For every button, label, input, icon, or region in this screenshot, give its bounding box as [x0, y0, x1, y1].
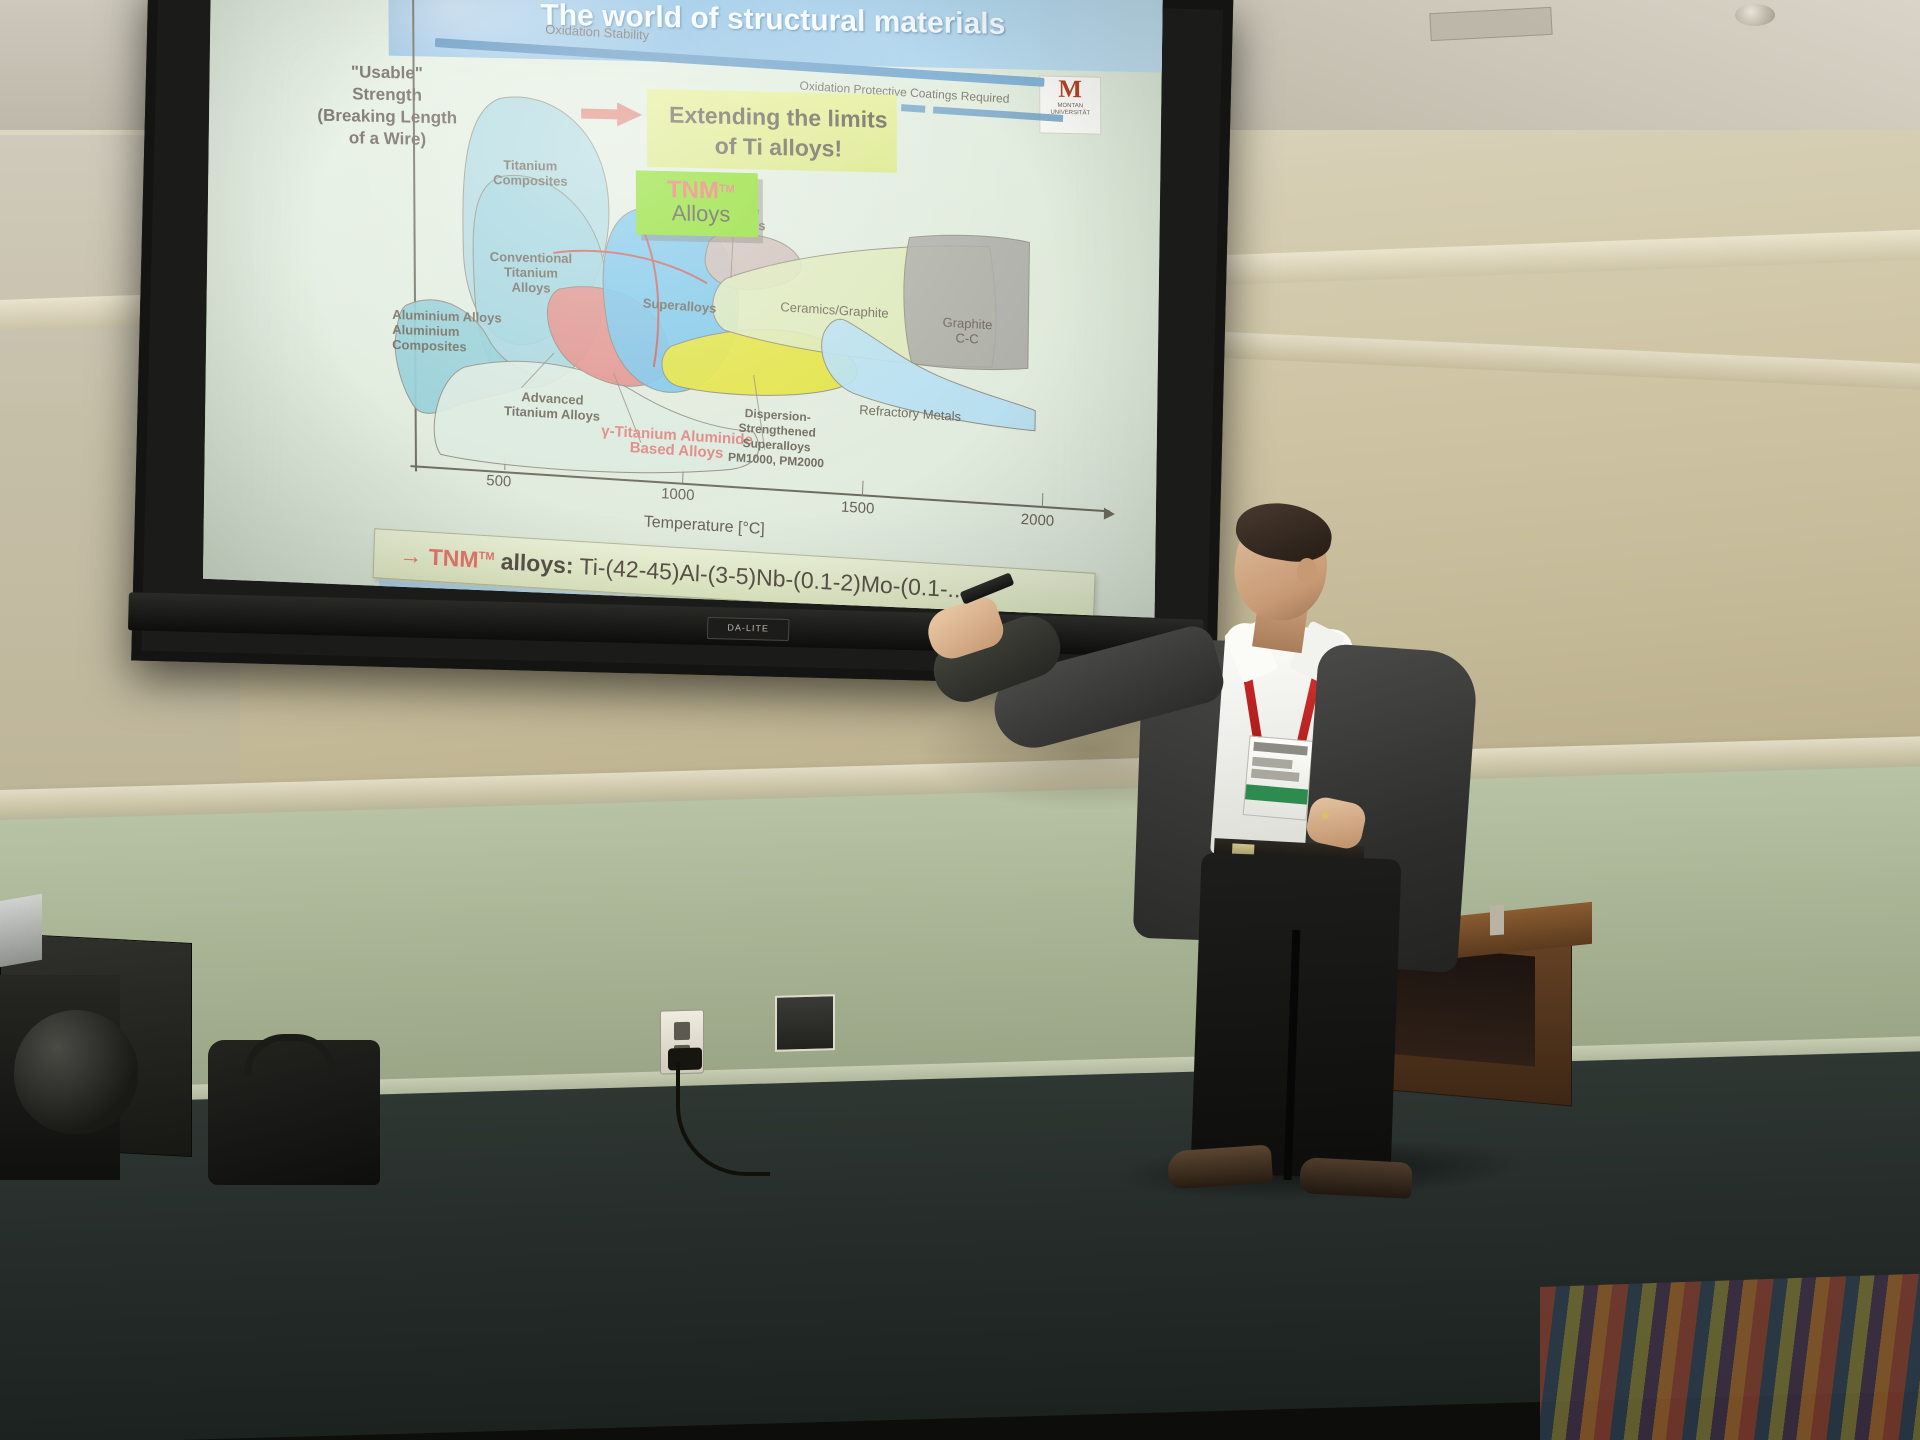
ear [1297, 558, 1317, 584]
tnm-highlight-text: TNMTM Alloys [646, 176, 756, 229]
shoe-left [1167, 1144, 1273, 1189]
tnm-trademark: TM [719, 183, 735, 195]
outlet-socket-top [674, 1022, 690, 1040]
label-cta-l2: Alloys [475, 279, 587, 297]
shoe-right [1299, 1157, 1413, 1199]
presenter [1050, 500, 1520, 1200]
label-aluminium-alloys: Aluminium Alloys Aluminium Composites [392, 307, 524, 356]
tnm-alloys-word: Alloys [646, 200, 756, 229]
wall-data-port [775, 994, 835, 1052]
label-graphite-cc: Graphite C-C [922, 313, 1013, 348]
patterned-carpet [1540, 1273, 1920, 1440]
photo-scene: The world of structural materials and Ma… [0, 0, 1920, 1440]
badge-line-2 [1252, 757, 1293, 769]
label-conventional-titanium-alloys: Conventional Titanium Alloys [475, 249, 587, 297]
ceiling-smoke-detector [1735, 4, 1775, 26]
label-titanium-composites: Titanium Composites [480, 157, 580, 189]
badge-line-3 [1251, 769, 1300, 782]
banner-tnm: TNM [428, 544, 479, 573]
label-cta-l0: Conventional [475, 249, 587, 267]
laptop [0, 894, 42, 968]
finger-ring [1322, 812, 1329, 819]
conference-badge [1243, 735, 1314, 820]
banner-arrow: → [399, 542, 423, 569]
red-arrow-icon [581, 101, 643, 128]
label-titanium-composites-l1: Composites [480, 172, 580, 189]
region-graphite-cc [903, 233, 1030, 372]
extend-line-1: Extending the limits [661, 99, 896, 135]
speaker-cone [14, 1010, 138, 1134]
projected-slide: The world of structural materials and Ma… [203, 0, 1163, 618]
screen-brand-label: DA-LITE [707, 617, 790, 641]
banner-alloys: alloys: [494, 548, 574, 579]
banner-tm: TM [478, 550, 494, 563]
extend-line-2: of Ti alloys! [661, 129, 896, 165]
label-dispersion-strengthened: Dispersion- Strengthened Superalloys PM1… [716, 404, 838, 472]
badge-color-band [1245, 784, 1308, 804]
badge-line-1 [1253, 742, 1308, 756]
extending-limits-text: Extending the limits of Ti alloys! [661, 99, 896, 165]
